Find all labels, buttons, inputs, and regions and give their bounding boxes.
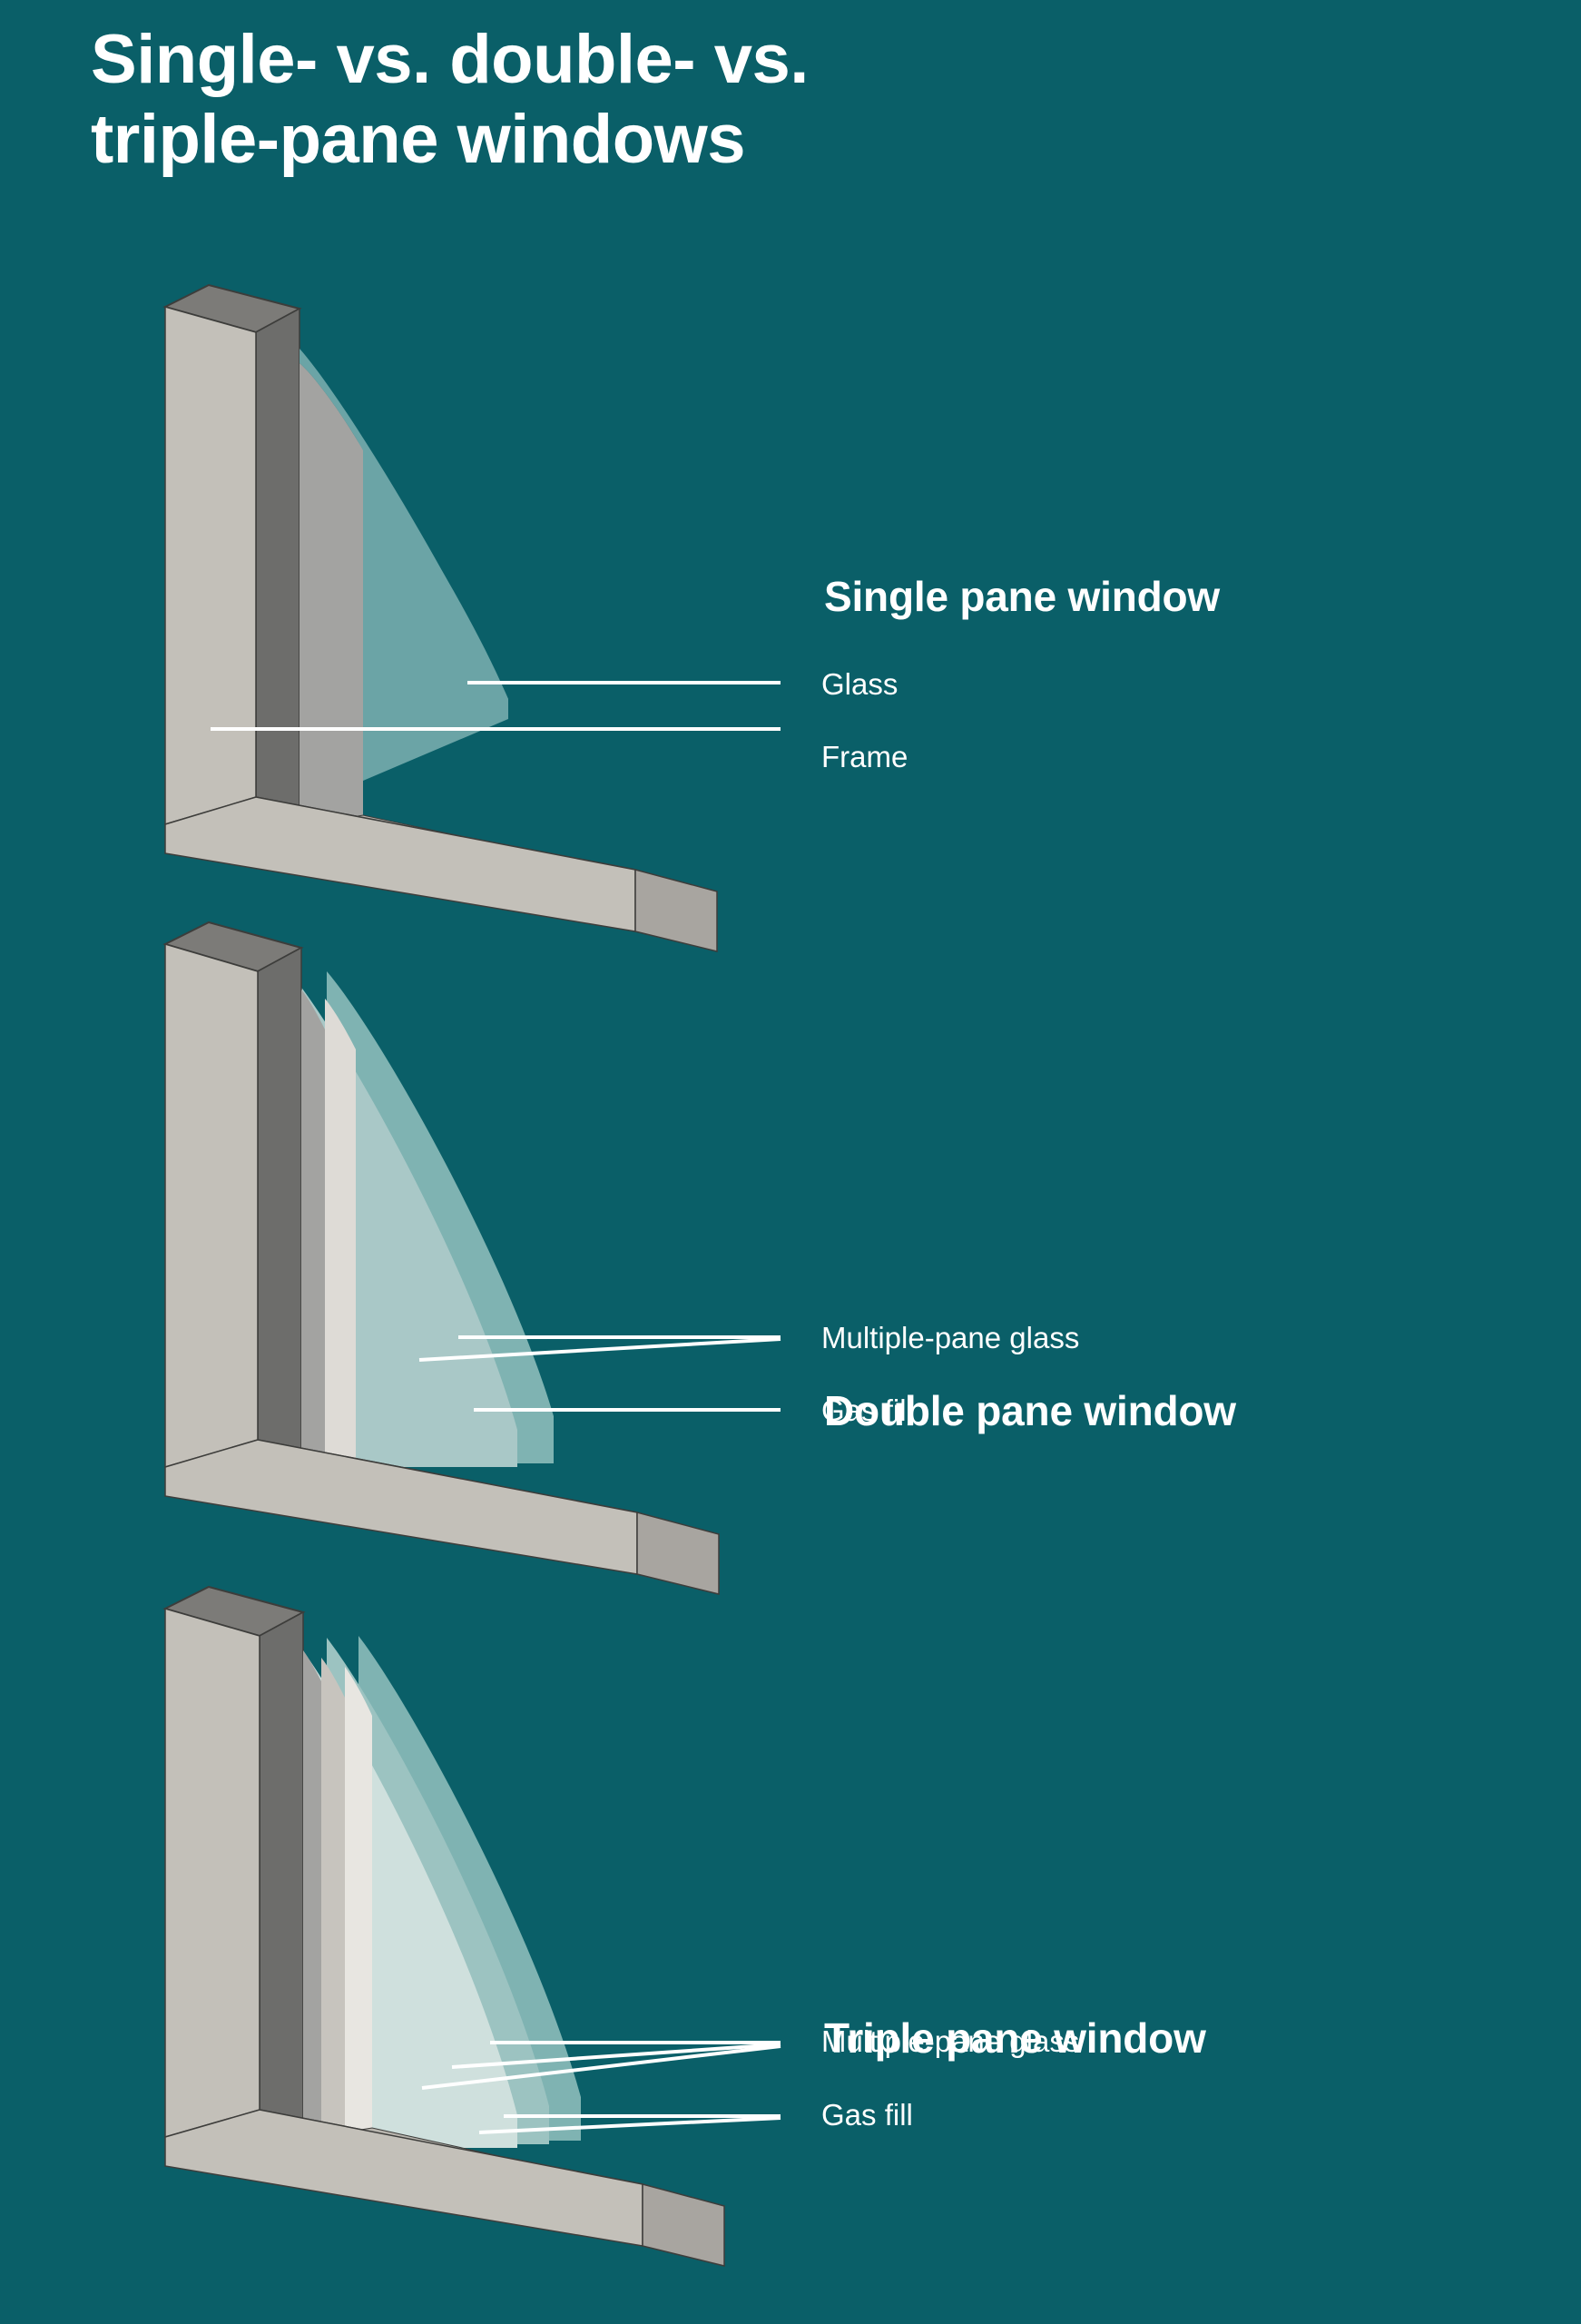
- pane-edge-strip-3: [345, 1667, 372, 2146]
- page-title: Single- vs. double- vs. triple-pane wind…: [91, 20, 1180, 180]
- triple-pane-window-illustration: [0, 1571, 817, 2324]
- rail-end-cap: [643, 2184, 724, 2266]
- label-multiple-pane-glass: Multiple-pane glass: [821, 2024, 1079, 2059]
- frame-inner-side-face: [260, 1612, 303, 2139]
- label-multiple-pane-glass: Multiple-pane glass: [821, 1321, 1079, 1355]
- label-glass: Glass: [821, 667, 898, 702]
- label-gas-fill: Gas fill: [821, 2098, 913, 2132]
- frame-front-face: [165, 307, 256, 824]
- double-pane-window-illustration: [0, 908, 817, 1652]
- label-frame: Frame: [821, 740, 908, 774]
- frame-inner-side-face: [256, 309, 300, 826]
- section-single-pane: Single pane window Glass Frame: [0, 272, 1581, 999]
- pane-edge-strip: [325, 999, 356, 1472]
- frame-inner-reveal-1: [303, 1650, 321, 2142]
- single-pane-window-illustration: [0, 272, 817, 999]
- frame-front-face: [165, 1609, 260, 2137]
- label-gas-fill: Gas fill: [821, 1393, 913, 1428]
- section-double-pane: Double pane window Multiple-pane glass G…: [0, 908, 1581, 1634]
- frame-inner-reveal-1: [301, 990, 325, 1471]
- pane-edge-strip-2: [321, 1658, 345, 2144]
- section-triple-pane: Triple pane window Multiple-pane glass G…: [0, 1571, 1581, 2324]
- frame-inner-side-face: [258, 948, 301, 1469]
- section-heading-single: Single pane window: [824, 572, 1220, 621]
- frame-front-face: [165, 944, 258, 1467]
- infographic-page: Single- vs. double- vs. triple-pane wind…: [0, 0, 1581, 2324]
